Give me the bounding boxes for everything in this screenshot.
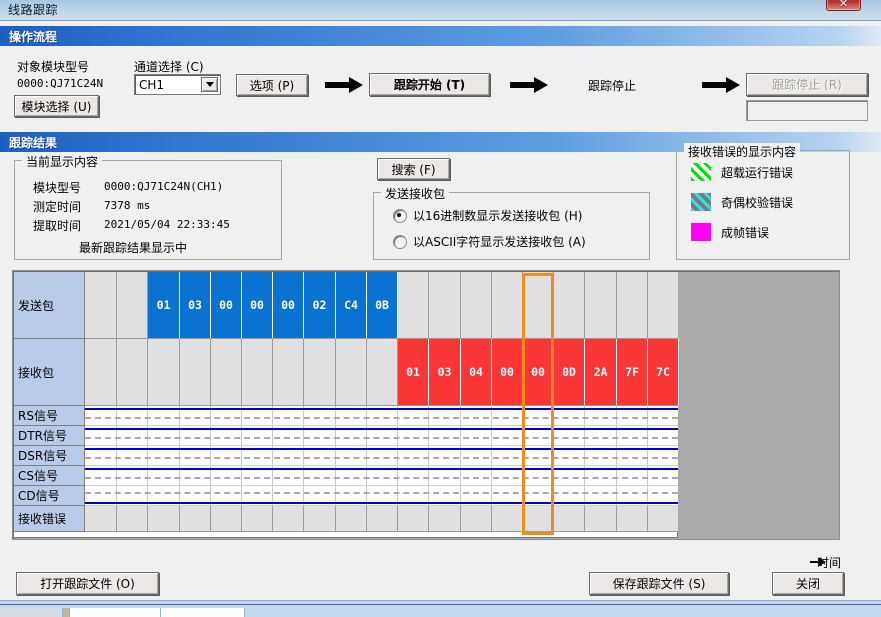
column-separator [366,506,367,531]
column-separator [335,339,336,405]
column-separator [210,506,211,531]
packet-format-group-title: 发送接收包 [381,185,449,202]
current-display-footer: 最新跟踪结果显示中 [79,239,187,256]
radio-hex-indicator [393,209,407,223]
recv-packet-byte[interactable]: 7F [617,339,648,405]
column-separator [116,506,117,531]
title-bar: 线路跟踪 ✕ [0,0,881,21]
trace-grid-inner: 发送包 接收包 RS信号 DTR信号 DSR信号 CS信号 CD信号 接收错误 … [14,272,678,538]
chevron-down-icon[interactable] [201,77,218,92]
trace-stop-button[interactable]: 跟踪停止 (R) [746,73,868,96]
column-separator [584,272,585,338]
open-trace-file-button[interactable]: 打开跟踪文件 (O) [16,572,159,595]
overrun-error-swatch [691,163,711,181]
radio-hex-display[interactable]: 以16进制数显示发送接收包 (H) [393,207,582,224]
window-title: 线路跟踪 [8,1,58,18]
radio-ascii-indicator [393,235,407,249]
close-dialog-button[interactable]: 关闭 [772,572,844,595]
section-header-operation-flow: 操作流程 [0,26,881,46]
column-separator [147,506,148,531]
signal-high-line [85,502,678,504]
signal-high-line [85,468,678,470]
column-separator [335,506,336,531]
column-separator [428,272,429,338]
legend-item-overrun: 超载运行错误 [691,163,793,181]
module-model-row-value: 0000:QJ71C24N(CH1) [104,180,223,193]
column-separator [584,506,585,531]
signal-low-line [85,417,678,419]
arrow-right-icon [810,558,826,567]
legend-label-framing: 成帧错误 [721,224,769,241]
arrow-right-icon [510,77,548,93]
radio-hex-label: 以16进制数显示发送接收包 (H) [413,207,582,224]
row-label-dsr-signal: DSR信号 [14,446,85,466]
background-strip [161,608,245,617]
signal-low-line [85,477,678,479]
radio-ascii-display[interactable]: 以ASCII字符显示发送接收包 (A) [393,233,586,250]
send-packet-byte[interactable]: 00 [242,272,273,338]
send-packet-byte[interactable]: 01 [148,272,180,338]
recv-packet-byte[interactable]: 2A [585,339,617,405]
column-separator [491,272,492,338]
column-separator [522,506,523,531]
column-separator [272,506,273,531]
legend-item-parity: 奇偶校验错误 [691,193,793,211]
signal-band-dsr [85,446,678,466]
signal-band-rs [85,406,678,426]
recv-packet-byte[interactable]: 01 [398,339,429,405]
send-packet-byte[interactable]: 02 [304,272,336,338]
error-legend-group-title: 接收错误的显示内容 [684,143,800,160]
module-select-button[interactable]: 模块选择 (U) [14,95,99,117]
column-separator [397,506,398,531]
object-module-model-label: 对象模块型号 [17,58,89,75]
extract-time-row-value: 2021/05/04 22:33:45 [104,218,230,231]
trace-start-button[interactable]: 跟踪开始 (T) [369,73,490,96]
row-label-rs-signal: RS信号 [14,406,85,426]
send-packet-byte[interactable]: 00 [211,272,242,338]
send-packet-byte[interactable]: 0B [367,272,398,338]
signal-low-line [85,492,678,494]
recv-packet-byte[interactable]: 0D [554,339,585,405]
column-separator [553,506,554,531]
signal-low-line [85,457,678,459]
send-packet-byte[interactable]: 00 [273,272,304,338]
column-separator [210,339,211,405]
recv-packet-byte[interactable]: 00 [492,339,523,405]
recv-packet-byte[interactable]: 7C [648,339,679,405]
current-display-group-title: 当前显示内容 [22,153,102,170]
column-separator [522,272,523,338]
recv-packet-byte[interactable]: 04 [461,339,492,405]
column-separator [491,506,492,531]
legend-label-parity: 奇偶校验错误 [721,194,793,211]
measure-time-row-label: 测定时间 [33,198,81,215]
options-button[interactable]: 选项 (P) [236,74,308,96]
signal-high-line [85,448,678,450]
close-glyph: ✕ [839,0,848,10]
column-separator [147,339,148,405]
arrow-right-icon [325,77,363,93]
column-separator [241,506,242,531]
row-label-recv-error: 接收错误 [14,506,85,532]
current-display-group: 当前显示内容 模块型号 0000:QJ71C24N(CH1) 测定时间 7378… [14,160,282,260]
column-separator [428,506,429,531]
column-separator [616,272,617,338]
row-label-dtr-signal: DTR信号 [14,426,85,446]
background-strip [63,608,70,617]
trace-stop-text: 跟踪停止 [588,77,636,94]
line-trace-window: 线路跟踪 ✕ 操作流程 对象模块型号 0000:QJ71C24N 模块选择 (U… [0,0,881,600]
measure-time-row-value: 7378 ms [104,199,150,212]
send-packet-byte[interactable]: C4 [336,272,367,338]
packet-format-group: 发送接收包 以16进制数显示发送接收包 (H) 以ASCII字符显示发送接收包 … [373,192,650,260]
trace-status-textbox[interactable] [746,100,868,121]
save-trace-file-button[interactable]: 保存跟踪文件 (S) [589,572,729,595]
arrow-right-icon [702,77,740,93]
section-title-operation-flow: 操作流程 [9,28,57,45]
signal-band-cs [85,466,678,486]
background-strip [0,608,63,617]
legend-label-overrun: 超载运行错误 [721,164,793,181]
close-icon[interactable]: ✕ [826,0,861,11]
background-strip [70,608,161,617]
row-label-cs-signal: CS信号 [14,466,85,486]
search-button[interactable]: 搜索 (F) [377,158,450,180]
column-separator [116,272,117,338]
channel-select-combo[interactable]: CH1 [134,74,221,95]
column-separator [460,506,461,531]
signal-high-line [85,408,678,410]
column-separator [241,339,242,405]
column-separator [460,272,461,338]
error-legend-group: 接收错误的显示内容 超载运行错误 奇偶校验错误 成帧错误 [676,150,850,260]
column-separator [647,272,648,338]
row-label-recv-packet: 接收包 [14,339,85,406]
channel-select-value: CH1 [135,78,164,92]
column-separator [179,506,180,531]
radio-ascii-label: 以ASCII字符显示发送接收包 (A) [413,233,586,250]
time-axis-hint: 时间 [810,554,841,571]
module-model-row-label: 模块型号 [33,179,81,196]
column-separator [116,339,117,405]
column-separator [303,339,304,405]
legend-item-framing: 成帧错误 [691,223,769,241]
recv-packet-byte[interactable]: 03 [429,339,461,405]
column-separator [647,506,648,531]
framing-error-swatch [691,223,711,241]
recv-error-band [85,506,678,532]
signal-high-line [85,428,678,430]
column-separator [179,339,180,405]
column-separator [366,339,367,405]
signal-low-line [85,437,678,439]
object-module-model-value: 0000:QJ71C24N [17,77,103,90]
signal-band-cd [85,486,678,506]
signal-band-dtr [85,426,678,446]
column-separator [272,339,273,405]
trace-grid[interactable]: 发送包 接收包 RS信号 DTR信号 DSR信号 CS信号 CD信号 接收错误 … [12,270,840,540]
parity-error-swatch [691,193,711,211]
row-label-cd-signal: CD信号 [14,486,85,506]
send-packet-byte[interactable]: 03 [180,272,211,338]
column-separator [303,506,304,531]
row-label-send-packet: 发送包 [14,272,85,339]
column-separator [616,506,617,531]
column-separator [553,272,554,338]
background-window-divider [0,604,881,605]
extract-time-row-label: 提取时间 [33,217,81,234]
section-title-trace-result: 跟踪结果 [9,134,57,151]
channel-select-label: 通道选择 (C) [134,58,204,75]
recv-packet-byte[interactable]: 00 [523,339,554,405]
